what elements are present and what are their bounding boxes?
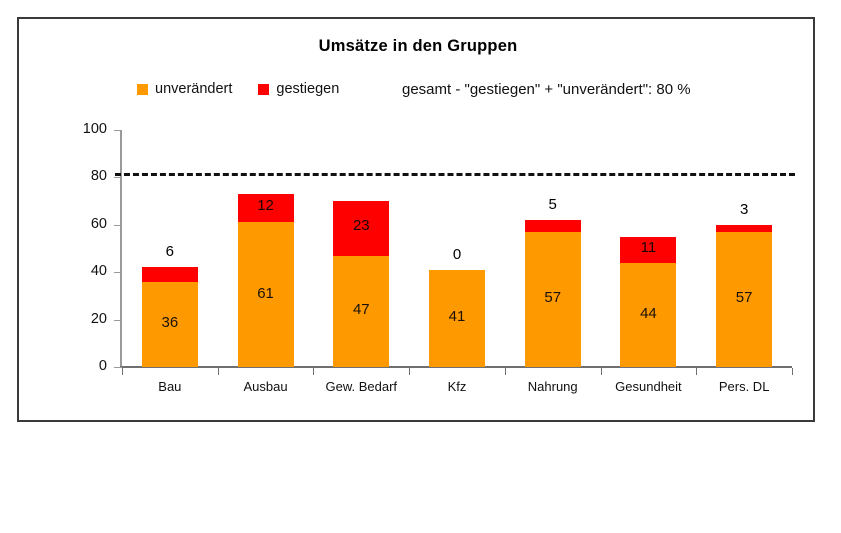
x-axis-tick bbox=[122, 368, 123, 375]
x-axis-category-label: Kfz bbox=[448, 379, 467, 394]
bar-segment-unveraendert[interactable]: 57 bbox=[716, 232, 772, 367]
x-axis-tick bbox=[218, 368, 219, 375]
plot-area: 020406080100 BauAusbauGew. BedarfKfzNahr… bbox=[19, 19, 817, 424]
y-axis-tick-label: 0 bbox=[47, 358, 107, 374]
bar-value-label-gestiegen: 23 bbox=[333, 217, 389, 234]
x-axis-tick bbox=[409, 368, 410, 375]
x-axis-category-label: Ausbau bbox=[244, 379, 288, 394]
y-axis-line bbox=[120, 130, 122, 368]
y-axis-tick bbox=[114, 320, 122, 321]
x-axis-tick bbox=[601, 368, 602, 375]
bar-segment-gestiegen[interactable] bbox=[525, 220, 581, 232]
y-axis-tick bbox=[114, 367, 122, 368]
bar-segment-unveraendert[interactable]: 61 bbox=[238, 222, 294, 367]
x-axis-tick bbox=[696, 368, 697, 375]
y-axis-tick bbox=[114, 225, 122, 226]
y-axis-tick-label: 20 bbox=[47, 311, 107, 327]
x-axis-category-label: Gew. Bedarf bbox=[326, 379, 398, 394]
bar-value-label-unveraendert: 57 bbox=[716, 289, 772, 306]
bar-value-label-unveraendert: 36 bbox=[142, 314, 198, 331]
bar-value-label-gestiegen: 0 bbox=[429, 246, 485, 263]
bar-segment-unveraendert[interactable]: 47 bbox=[333, 256, 389, 367]
bar-segment-unveraendert[interactable]: 44 bbox=[620, 263, 676, 367]
x-axis-tick bbox=[792, 368, 793, 375]
x-axis-category-label: Bau bbox=[158, 379, 181, 394]
y-axis-tick bbox=[114, 130, 122, 131]
x-axis-tick bbox=[505, 368, 506, 375]
bar-value-label-unveraendert: 57 bbox=[525, 289, 581, 306]
x-axis-category-label: Nahrung bbox=[528, 379, 578, 394]
y-axis-tick bbox=[114, 177, 122, 178]
bar-segment-gestiegen[interactable] bbox=[142, 267, 198, 281]
bar-value-label-unveraendert: 41 bbox=[429, 308, 485, 325]
y-axis-tick bbox=[114, 272, 122, 273]
x-axis-tick bbox=[313, 368, 314, 375]
chart-frame: Umsätze in den Gruppen unverändert gesti… bbox=[17, 17, 815, 422]
bar-segment-unveraendert[interactable]: 36 bbox=[142, 282, 198, 367]
x-axis-category-label: Gesundheit bbox=[615, 379, 682, 394]
y-axis-tick-label: 100 bbox=[47, 121, 107, 137]
y-axis-tick-label: 60 bbox=[47, 216, 107, 232]
bar-segment-unveraendert[interactable]: 41 bbox=[429, 270, 485, 367]
bar-value-label-unveraendert: 44 bbox=[620, 305, 676, 322]
bar-value-label-gestiegen: 3 bbox=[716, 201, 772, 218]
bar-value-label-gestiegen: 6 bbox=[142, 243, 198, 260]
bar-value-label-gestiegen: 11 bbox=[620, 239, 676, 256]
bar-segment-gestiegen[interactable] bbox=[716, 225, 772, 232]
bar-value-label-unveraendert: 47 bbox=[333, 301, 389, 318]
bar-value-label-gestiegen: 12 bbox=[238, 197, 294, 214]
bar-value-label-gestiegen: 5 bbox=[525, 196, 581, 213]
x-axis-category-label: Pers. DL bbox=[719, 379, 770, 394]
bar-value-label-unveraendert: 61 bbox=[238, 285, 294, 302]
y-axis-tick-label: 40 bbox=[47, 263, 107, 279]
reference-line bbox=[115, 173, 795, 176]
y-axis-tick-label: 80 bbox=[47, 168, 107, 184]
bar-segment-unveraendert[interactable]: 57 bbox=[525, 232, 581, 367]
